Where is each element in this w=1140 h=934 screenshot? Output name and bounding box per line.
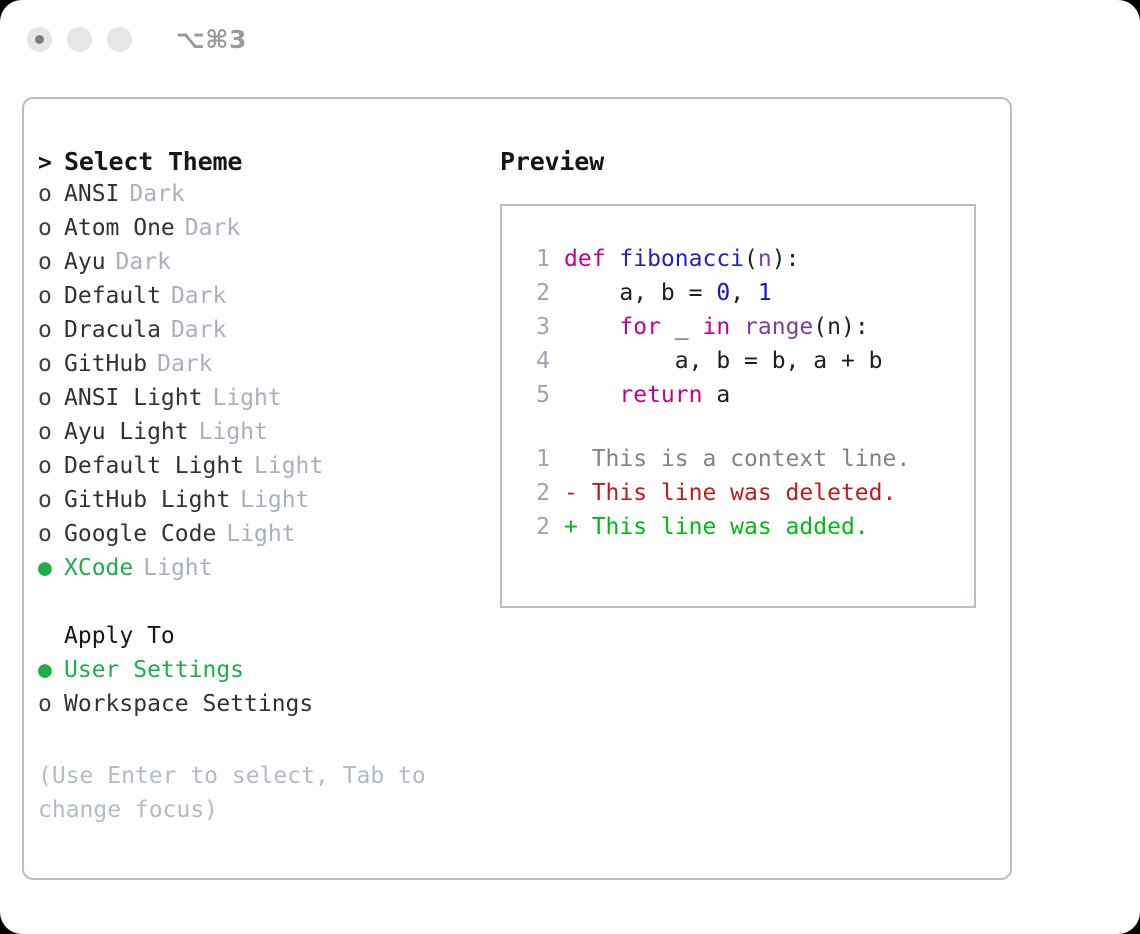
line-number: 1 [520, 446, 550, 472]
radio-unselected-icon: o [38, 215, 64, 241]
radio-unselected-icon: o [38, 351, 64, 377]
theme-item-label: Default [64, 283, 161, 309]
theme-item-variant: Light [212, 385, 281, 411]
theme-list-item[interactable]: oGitHubDark [38, 351, 488, 385]
theme-item-variant: Light [226, 521, 295, 547]
theme-selector-panel: > Select Theme oANSIDarkoAtom OneDarkoAy… [22, 97, 1012, 880]
code-line-text: + This line was added. [564, 514, 869, 540]
code-token: a, b = [564, 280, 716, 306]
theme-item-label: ANSI Light [64, 385, 202, 411]
preview-box: 1def fibonacci(n):2 a, b = 0, 13 for _ i… [500, 204, 976, 608]
code-token: ): [841, 314, 869, 340]
theme-item-label: Default Light [64, 453, 244, 479]
apply-to-item[interactable]: ●User Settings [38, 657, 488, 691]
theme-item-label: XCode [64, 555, 133, 581]
diff-sample: 1 This is a context line.2- This line wa… [520, 446, 974, 548]
code-sample: 1def fibonacci(n):2 a, b = 0, 13 for _ i… [520, 246, 974, 416]
code-token [564, 382, 619, 408]
apply-to-item[interactable]: oWorkspace Settings [38, 691, 488, 725]
diff-line: 2- This line was deleted. [520, 480, 974, 514]
code-token: return [619, 382, 702, 408]
theme-list-item[interactable]: oAyuDark [38, 249, 488, 283]
radio-unselected-icon: o [38, 521, 64, 547]
code-token: for [619, 314, 661, 340]
code-line-text: a, b = b, a + b [564, 348, 883, 374]
preview-column: Preview 1def fibonacci(n):2 a, b = 0, 13… [500, 147, 990, 608]
theme-list: oANSIDarkoAtom OneDarkoAyuDarkoDefaultDa… [38, 181, 488, 589]
line-number: 2 [520, 480, 550, 506]
line-number: 3 [520, 314, 550, 340]
line-number: 1 [520, 246, 550, 272]
theme-list-item[interactable]: oGoogle CodeLight [38, 521, 488, 555]
window-controls [27, 27, 132, 52]
code-line: 1def fibonacci(n): [520, 246, 974, 280]
code-token [730, 314, 744, 340]
radio-unselected-icon: o [38, 249, 64, 275]
window-light-active-icon[interactable] [27, 27, 52, 52]
code-token: n [827, 314, 841, 340]
code-diff-gap [520, 416, 974, 446]
theme-list-item[interactable]: oANSI LightLight [38, 385, 488, 419]
theme-list-column: > Select Theme oANSIDarkoAtom OneDarkoAy… [38, 147, 488, 827]
apply-to-item-label: Workspace Settings [64, 691, 313, 717]
code-token: , [730, 280, 758, 306]
radio-selected-icon: ● [38, 657, 64, 683]
theme-list-item[interactable]: oAyu LightLight [38, 419, 488, 453]
code-line: 2 a, b = 0, 1 [520, 280, 974, 314]
radio-selected-icon: ● [38, 555, 64, 581]
window-light-dot-icon [35, 35, 44, 44]
theme-list-item[interactable]: oAtom OneDark [38, 215, 488, 249]
code-line-text: This is a context line. [564, 446, 910, 472]
apply-to-item-label: User Settings [64, 657, 244, 683]
theme-list-item[interactable]: oDefaultDark [38, 283, 488, 317]
theme-list-heading-label: Select Theme [64, 147, 242, 176]
theme-item-variant: Light [199, 419, 268, 445]
apply-to-heading: Apply To [38, 623, 488, 657]
theme-item-variant: Light [143, 555, 212, 581]
code-line-text: for _ in range(n): [564, 314, 869, 340]
code-token: - This line was deleted. [564, 480, 896, 506]
theme-list-item[interactable]: oGitHub LightLight [38, 487, 488, 521]
theme-item-variant: Dark [185, 215, 240, 241]
app-window: ⌥⌘3 > Select Theme oANSIDarkoAtom OneDar… [0, 0, 1140, 934]
code-line-text: a, b = 0, 1 [564, 280, 772, 306]
code-line: 5 return a [520, 382, 974, 416]
radio-unselected-icon: o [38, 487, 64, 513]
theme-item-label: GitHub Light [64, 487, 230, 513]
code-token: This is a context line. [564, 446, 910, 472]
code-line: 3 for _ in range(n): [520, 314, 974, 348]
code-line: 4 a, b = b, a + b [520, 348, 974, 382]
code-token: def [564, 246, 619, 272]
theme-item-label: Google Code [64, 521, 216, 547]
theme-list-item[interactable]: oDefault LightLight [38, 453, 488, 487]
window-light-third-icon[interactable] [107, 27, 132, 52]
theme-item-variant: Dark [157, 351, 212, 377]
code-token: a [702, 382, 730, 408]
diff-line: 1 This is a context line. [520, 446, 974, 480]
theme-list-item[interactable]: oDraculaDark [38, 317, 488, 351]
code-token: ): [772, 246, 800, 272]
code-token: ( [744, 246, 758, 272]
radio-unselected-icon: o [38, 453, 64, 479]
code-line-text: - This line was deleted. [564, 480, 896, 506]
theme-item-label: Ayu [64, 249, 106, 275]
apply-to-heading-label: Apply To [64, 623, 175, 649]
keyboard-shortcut-label: ⌥⌘3 [176, 25, 247, 54]
theme-item-label: GitHub [64, 351, 147, 377]
window-titlebar: ⌥⌘3 [0, 0, 1140, 78]
radio-unselected-icon: o [38, 419, 64, 445]
code-token: 0 [716, 280, 730, 306]
code-line-text: def fibonacci(n): [564, 246, 799, 272]
line-number: 2 [520, 280, 550, 306]
line-number: 4 [520, 348, 550, 374]
radio-unselected-icon: o [38, 691, 64, 717]
theme-list-item[interactable]: ●XCodeLight [38, 555, 488, 589]
radio-unselected-icon: o [38, 317, 64, 343]
code-token [564, 314, 619, 340]
code-token: n [758, 246, 772, 272]
theme-item-label: Ayu Light [64, 419, 189, 445]
preview-title: Preview [500, 147, 990, 181]
window-light-second-icon[interactable] [67, 27, 92, 52]
theme-item-variant: Dark [171, 317, 226, 343]
theme-item-label: Atom One [64, 215, 175, 241]
theme-item-variant: Dark [129, 181, 184, 207]
code-token: ( [813, 314, 827, 340]
apply-to-list: ●User SettingsoWorkspace Settings [38, 657, 488, 725]
code-token: a, b = b, a + b [564, 348, 883, 374]
keyboard-hint-text: (Use Enter to select, Tab to change focu… [38, 759, 458, 827]
radio-unselected-icon: o [38, 283, 64, 309]
code-token: 1 [758, 280, 772, 306]
code-token: in [702, 314, 730, 340]
radio-unselected-icon: o [38, 181, 64, 207]
line-number: 2 [520, 514, 550, 540]
code-token: + This line was added. [564, 514, 869, 540]
code-token: range [744, 314, 813, 340]
caret-icon: > [38, 150, 64, 176]
radio-unselected-icon: o [38, 385, 64, 411]
theme-item-variant: Dark [171, 283, 226, 309]
code-token: _ [661, 314, 703, 340]
theme-item-variant: Light [254, 453, 323, 479]
list-spacer [38, 589, 488, 623]
theme-item-variant: Light [240, 487, 309, 513]
theme-list-heading: > Select Theme [38, 147, 488, 181]
diff-line: 2+ This line was added. [520, 514, 974, 548]
theme-list-item[interactable]: oANSIDark [38, 181, 488, 215]
theme-item-variant: Dark [116, 249, 171, 275]
theme-item-label: Dracula [64, 317, 161, 343]
line-number: 5 [520, 382, 550, 408]
code-line-text: return a [564, 382, 730, 408]
code-token: fibonacci [619, 246, 744, 272]
theme-item-label: ANSI [64, 181, 119, 207]
